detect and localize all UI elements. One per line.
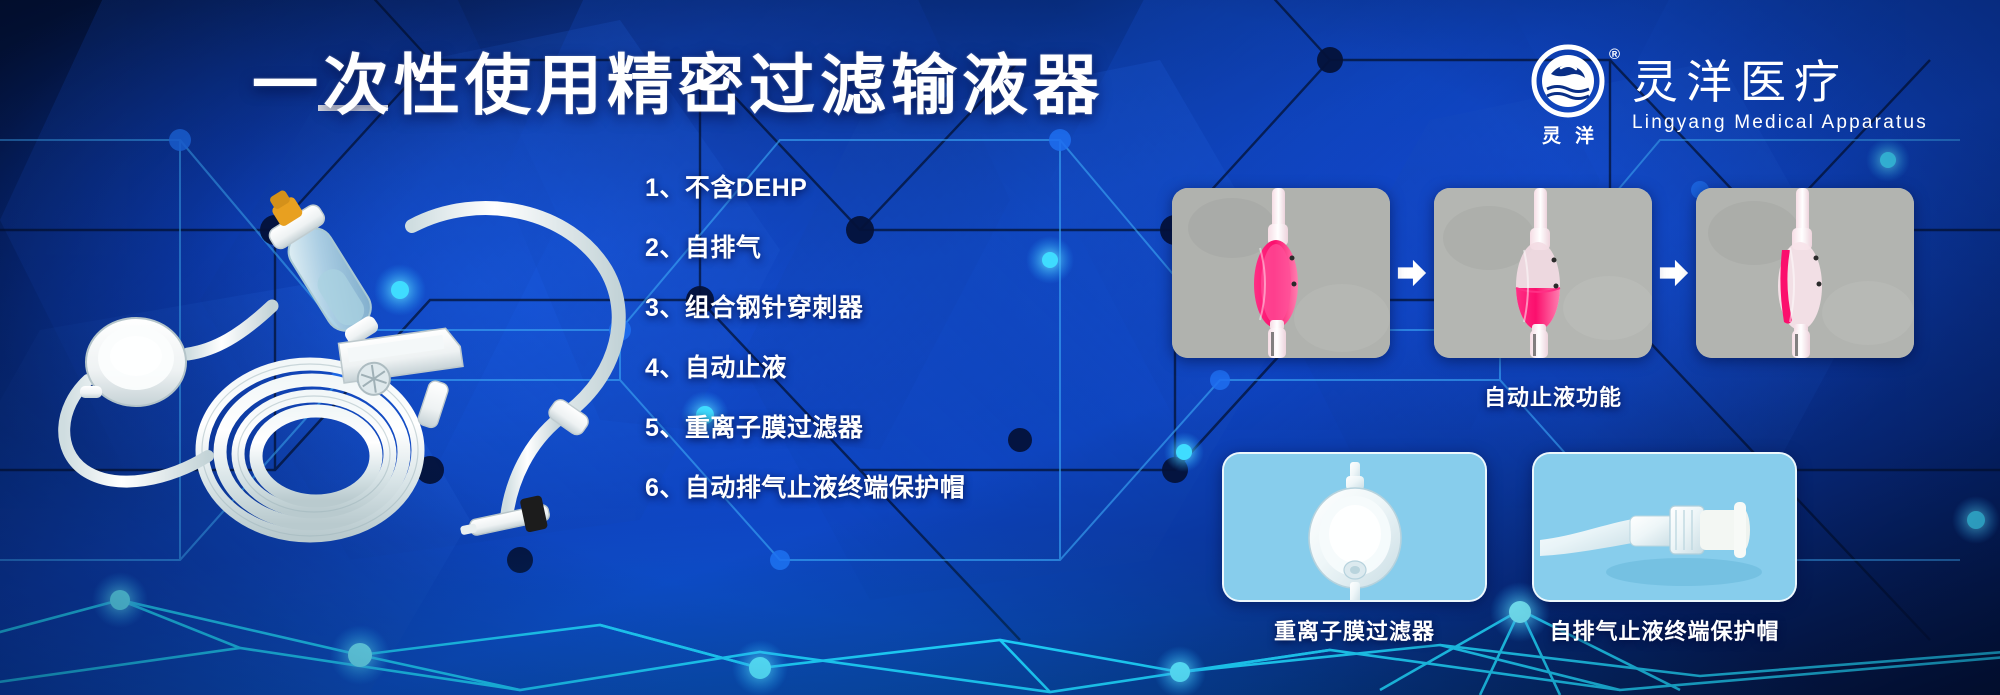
auto-stop-step-3-photo — [1696, 188, 1914, 358]
logo-mark: ® 灵洋 — [1522, 44, 1614, 148]
self-venting-stop-terminal-cap-photo — [1532, 452, 1797, 602]
list-item: 1、不含DEHP — [645, 173, 975, 203]
detail-panel-caption: 自排气止液终端保护帽 — [1532, 614, 1797, 646]
detail-panel-caption: 重离子膜过滤器 — [1222, 614, 1487, 646]
list-item: 4、自动止液 — [645, 353, 975, 383]
logo-brand-small-cn: 灵洋 — [1528, 121, 1608, 148]
logo-text-block: 灵洋医疗 Lingyang Medical Apparatus — [1632, 56, 1928, 136]
infusion-set-product-photo — [40, 150, 660, 550]
brand-logo: ® 灵洋 灵洋医疗 Lingyang Medical Apparatus — [1522, 44, 1928, 148]
logo-brand-en: Lingyang Medical Apparatus — [1632, 112, 1928, 134]
list-item: 3、组合钢针穿刺器 — [645, 293, 975, 323]
product-banner: 一次性使用精密过滤输液器 ® 灵洋 灵洋医疗 Lingyang Medical … — [0, 0, 2000, 695]
feature-list: 1、不含DEHP 2、自排气 3、组合钢针穿刺器 4、自动止液 5、重离子膜过滤… — [645, 173, 975, 503]
detail-panel-row — [1222, 452, 1797, 602]
list-item: 6、自动排气止液终端保护帽 — [645, 473, 975, 503]
heavy-ion-membrane-filter-photo — [1222, 452, 1487, 602]
list-item: 5、重离子膜过滤器 — [645, 413, 975, 443]
page-title: 一次性使用精密过滤输液器 — [252, 50, 1104, 120]
auto-stop-step-2-photo — [1434, 188, 1652, 358]
sequence-arrow-2-icon — [1652, 257, 1696, 289]
auto-stop-sequence — [1172, 188, 1914, 358]
logo-brand-cn: 灵洋医疗 — [1632, 56, 1928, 108]
auto-stop-step-1-photo — [1172, 188, 1390, 358]
sequence-arrow-1-icon — [1390, 257, 1434, 289]
detail-caption-row: 重离子膜过滤器 自排气止液终端保护帽 — [1222, 614, 1797, 646]
auto-stop-sequence-caption: 自动止液功能 — [1172, 380, 1934, 412]
registered-trademark-icon: ® — [1609, 46, 1620, 63]
list-item: 2、自排气 — [645, 233, 975, 263]
lingyang-circular-emblem-icon — [1531, 44, 1605, 118]
